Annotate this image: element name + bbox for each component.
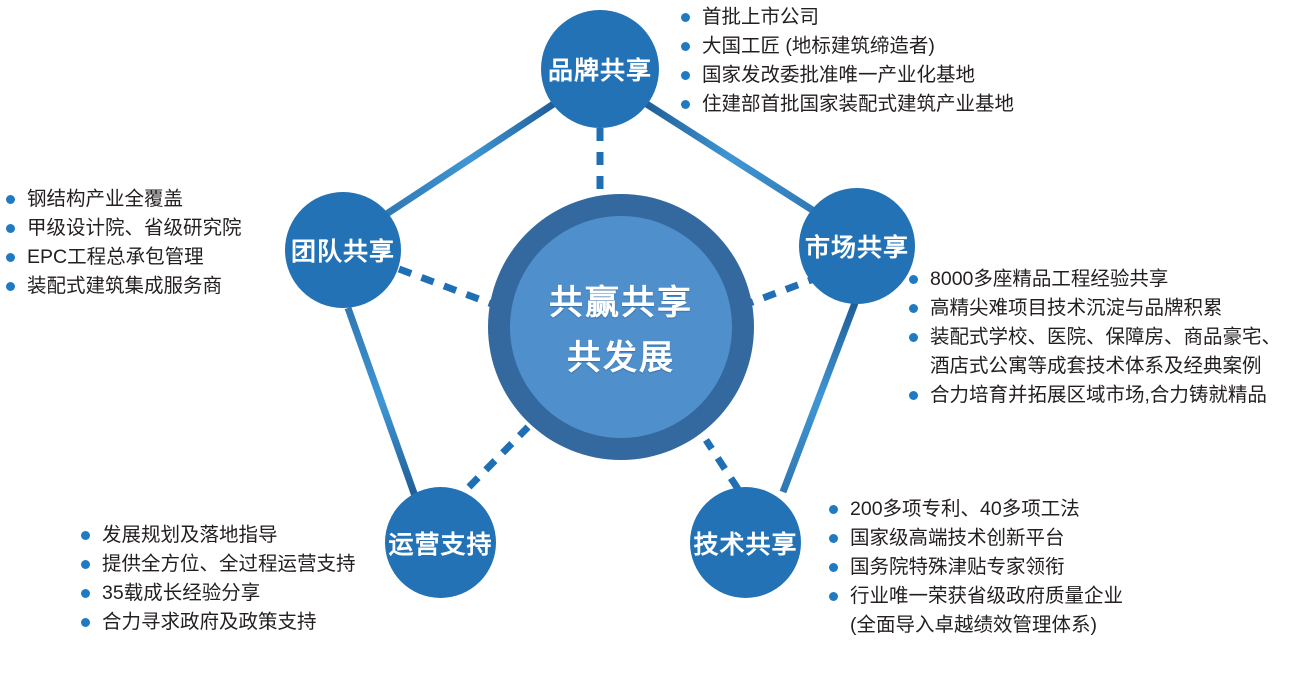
- list-item: 发展规划及落地指导: [80, 522, 356, 548]
- list-item: 住建部首批国家装配式建筑产业基地: [680, 91, 1014, 117]
- diagram-canvas: 共赢共享 共发展 品牌共享 团队共享 市场共享 运营支持 技术共享 首批上市公司…: [0, 0, 1299, 676]
- center-hub: 共赢共享 共发展: [488, 194, 754, 460]
- center-hub-inner: 共赢共享 共发展: [510, 216, 732, 438]
- list-item: 大国工匠 (地标建筑缔造者): [680, 33, 1014, 59]
- list-item: 国家发改委批准唯一产业化基地: [680, 62, 1014, 88]
- list-item: 钢结构产业全覆盖: [5, 186, 242, 212]
- node-operations[interactable]: 运营支持: [385, 487, 496, 598]
- center-title-line1: 共赢共享: [549, 275, 693, 324]
- edge-team-operations: [348, 308, 415, 496]
- list-item: 提供全方位、全过程运营支持: [80, 551, 356, 577]
- list-item: 行业唯一荣获省级政府质量企业: [828, 583, 1123, 609]
- text-block-market: 8000多座精品工程经验共享 高精尖难项目技术沉淀与品牌积累 装配式学校、医院、…: [908, 266, 1281, 411]
- node-technology[interactable]: 技术共享: [690, 487, 801, 598]
- list-item: 装配式学校、医院、保障房、商品豪宅、: [908, 324, 1281, 350]
- list-item: 国家级高端技术创新平台: [828, 525, 1123, 551]
- text-block-team: 钢结构产业全覆盖 甲级设计院、省级研究院 EPC工程总承包管理 装配式建筑集成服…: [5, 186, 242, 302]
- list-item: 200多项专利、40多项工法: [828, 496, 1123, 522]
- node-technology-label: 技术共享: [693, 525, 797, 561]
- list-item: 合力培育并拓展区域市场,合力铸就精品: [908, 382, 1281, 408]
- bullet-list-team: 钢结构产业全覆盖 甲级设计院、省级研究院 EPC工程总承包管理 装配式建筑集成服…: [5, 186, 242, 299]
- center-title-line2: 共发展: [567, 330, 675, 379]
- bullet-list-operations: 发展规划及落地指导 提供全方位、全过程运营支持 35载成长经验分享 合力寻求政府…: [80, 522, 356, 635]
- list-item: 35载成长经验分享: [80, 580, 356, 606]
- node-market-label: 市场共享: [805, 228, 909, 264]
- bullet-list-technology: 200多项专利、40多项工法 国家级高端技术创新平台 国务院特殊津贴专家领衔 行…: [828, 496, 1123, 638]
- spoke-team-center: [399, 269, 500, 307]
- list-item: 装配式建筑集成服务商: [5, 273, 242, 299]
- edge-brand-team: [385, 103, 555, 215]
- list-item-continuation: 酒店式公寓等成套技术体系及经典案例: [908, 353, 1281, 379]
- text-block-operations: 发展规划及落地指导 提供全方位、全过程运营支持 35载成长经验分享 合力寻求政府…: [80, 522, 356, 638]
- node-team-label: 团队共享: [291, 232, 395, 268]
- bullet-list-brand: 首批上市公司 大国工匠 (地标建筑缔造者) 国家发改委批准唯一产业化基地 住建部…: [680, 4, 1014, 117]
- text-block-brand: 首批上市公司 大国工匠 (地标建筑缔造者) 国家发改委批准唯一产业化基地 住建部…: [680, 4, 1014, 120]
- node-market[interactable]: 市场共享: [799, 188, 915, 304]
- list-item: 甲级设计院、省级研究院: [5, 215, 242, 241]
- list-item: 高精尖难项目技术沉淀与品牌积累: [908, 295, 1281, 321]
- node-brand[interactable]: 品牌共享: [541, 10, 659, 128]
- list-item: 国务院特殊津贴专家领衔: [828, 554, 1123, 580]
- spoke-technology-center: [706, 440, 738, 489]
- list-item: 合力寻求政府及政策支持: [80, 609, 356, 635]
- node-operations-label: 运营支持: [388, 525, 492, 561]
- list-item: 首批上市公司: [680, 4, 1014, 30]
- node-brand-label: 品牌共享: [548, 51, 652, 87]
- list-item: EPC工程总承包管理: [5, 244, 242, 270]
- bullet-list-market: 8000多座精品工程经验共享 高精尖难项目技术沉淀与品牌积累 装配式学校、医院、…: [908, 266, 1281, 408]
- node-team[interactable]: 团队共享: [285, 192, 401, 308]
- text-block-technology: 200多项专利、40多项工法 国家级高端技术创新平台 国务院特殊津贴专家领衔 行…: [828, 496, 1123, 641]
- list-item: 8000多座精品工程经验共享: [908, 266, 1281, 292]
- spoke-operations-center: [469, 427, 528, 487]
- edge-market-technology: [783, 303, 855, 492]
- list-item-continuation: (全面导入卓越绩效管理体系): [828, 612, 1123, 638]
